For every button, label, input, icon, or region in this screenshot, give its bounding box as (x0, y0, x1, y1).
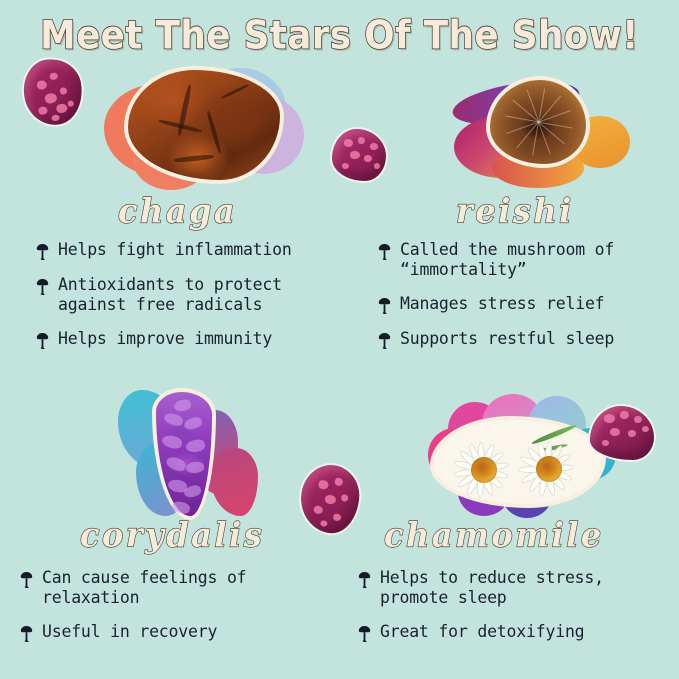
list-item: Helps to reduce stress, promote sleep (358, 568, 678, 608)
section-heading-corydalis: corydalis (80, 515, 264, 555)
chaga-mushroom-photo (98, 62, 313, 192)
mushroom-icon (378, 297, 391, 315)
benefit-list-chamomile: Helps to reduce stress, promote sleep Gr… (358, 568, 678, 657)
decorative-blob (210, 448, 258, 516)
list-item-text: Manages stress relief (400, 294, 604, 314)
reishi-cap-image (486, 76, 590, 168)
gummy-candy-decoration (17, 53, 88, 131)
chamomile-flower-photo (424, 394, 620, 522)
poster-title-bar: Meet The Stars Of The Show! (0, 14, 679, 54)
benefit-list-reishi: Called the mushroom of “immortality” Man… (378, 240, 674, 364)
list-item-text: Great for detoxifying (380, 622, 584, 642)
daisy-flower (516, 436, 582, 502)
mushroom-icon (20, 571, 33, 589)
list-item: Antioxidants to protect against free rad… (36, 275, 348, 315)
list-item-text: Antioxidants to protect against free rad… (58, 275, 282, 315)
mushroom-icon (36, 332, 49, 350)
chamomile-daisies-image (430, 416, 606, 508)
list-item: Called the mushroom of “immortality” (378, 240, 674, 280)
list-item-text: Useful in recovery (42, 622, 217, 642)
list-item: Can cause feelings of relaxation (20, 568, 340, 608)
gummy-candy-decoration (588, 404, 656, 462)
list-item-text: Helps improve immunity (58, 329, 272, 349)
list-item-text: Can cause feelings of relaxation (42, 568, 246, 608)
benefit-list-chaga: Helps fight inflammation Antioxidants to… (36, 240, 348, 364)
mushroom-icon (36, 243, 49, 261)
daisy-flower (452, 438, 516, 502)
reishi-mushroom-photo (452, 72, 637, 194)
list-item: Helps improve immunity (36, 329, 348, 350)
section-heading-chamomile: chamomile (384, 515, 604, 555)
mushroom-icon (378, 332, 391, 350)
list-item-text: Helps fight inflammation (58, 240, 292, 260)
list-item-text: Supports restful sleep (400, 329, 614, 349)
list-item: Useful in recovery (20, 622, 340, 643)
list-item: Manages stress relief (378, 294, 674, 315)
list-item: Great for detoxifying (358, 622, 678, 643)
benefit-list-corydalis: Can cause feelings of relaxation Useful … (20, 568, 340, 657)
section-heading-chaga: chaga (118, 191, 237, 231)
gummy-candy-decoration (295, 460, 364, 538)
gummy-candy-decoration (330, 127, 388, 183)
mushroom-icon (358, 625, 371, 643)
list-item: Supports restful sleep (378, 329, 674, 350)
list-item-text: Called the mushroom of “immortality” (400, 240, 614, 280)
mushroom-icon (20, 625, 33, 643)
list-item: Helps fight inflammation (36, 240, 348, 261)
product-infographic-poster: Meet The Stars Of The Show! (0, 0, 679, 679)
mushroom-icon (36, 278, 49, 296)
mushroom-icon (358, 571, 371, 589)
list-item-text: Helps to reduce stress, promote sleep (380, 568, 604, 608)
section-heading-reishi: reishi (456, 191, 574, 231)
corydalis-flower-photo (118, 388, 268, 522)
page-title: Meet The Stars Of The Show! (40, 14, 639, 59)
mushroom-icon (378, 243, 391, 261)
